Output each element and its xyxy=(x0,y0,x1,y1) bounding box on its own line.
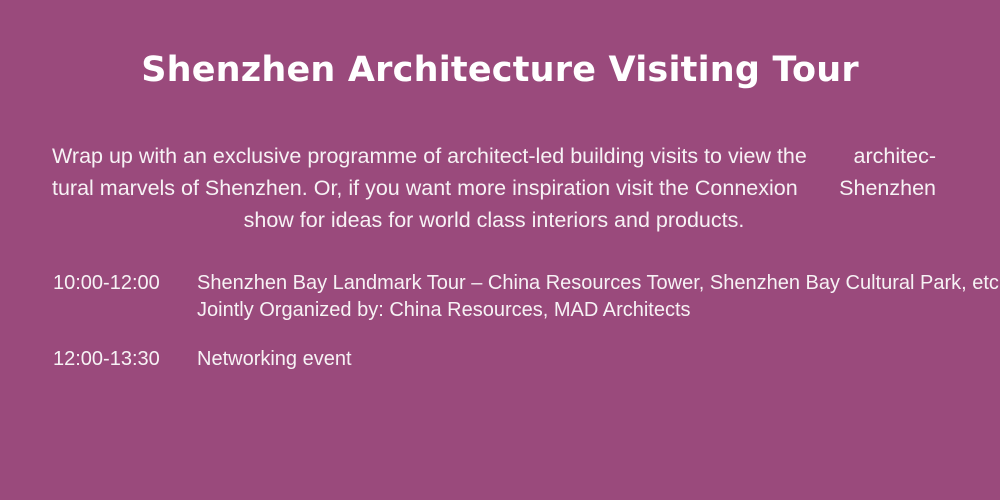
schedule-row: 12:00-13:30 Networking event xyxy=(53,346,943,373)
intro-paragraph: Wrap up with an exclusive programme of a… xyxy=(52,140,936,236)
schedule-row-title: Networking event xyxy=(197,346,943,373)
schedule-row-time: 10:00-12:00 xyxy=(53,270,197,297)
schedule-row: 10:00-12:00 Shenzhen Bay Landmark Tour –… xyxy=(53,270,943,324)
intro-line-1: Wrap up with an exclusive programme of a… xyxy=(52,140,936,172)
page-title: Shenzhen Architecture Visiting Tour xyxy=(0,48,1000,92)
intro-line-2-right: Shenzhen xyxy=(839,172,936,204)
schedule-row-title: Shenzhen Bay Landmark Tour – China Resou… xyxy=(197,270,1000,297)
schedule-row-description: Shenzhen Bay Landmark Tour – China Resou… xyxy=(197,270,1000,324)
schedule-row-time: 12:00-13:30 xyxy=(53,346,197,373)
intro-line-2-left: tural marvels of Shenzhen. Or, if you wa… xyxy=(52,172,798,204)
schedule-row-organizer: Jointly Organized by: China Resources, M… xyxy=(197,297,1000,324)
slide-canvas: Shenzhen Architecture Visiting Tour Wrap… xyxy=(0,0,1000,500)
intro-line-1-left: Wrap up with an exclusive programme of a… xyxy=(52,140,807,172)
schedule-row-description: Networking event xyxy=(197,346,943,373)
intro-line-2: tural marvels of Shenzhen. Or, if you wa… xyxy=(52,172,936,204)
schedule-list: 10:00-12:00 Shenzhen Bay Landmark Tour –… xyxy=(53,270,943,373)
intro-line-1-right: architec- xyxy=(854,140,936,172)
intro-line-3: show for ideas for world class interiors… xyxy=(52,204,936,236)
